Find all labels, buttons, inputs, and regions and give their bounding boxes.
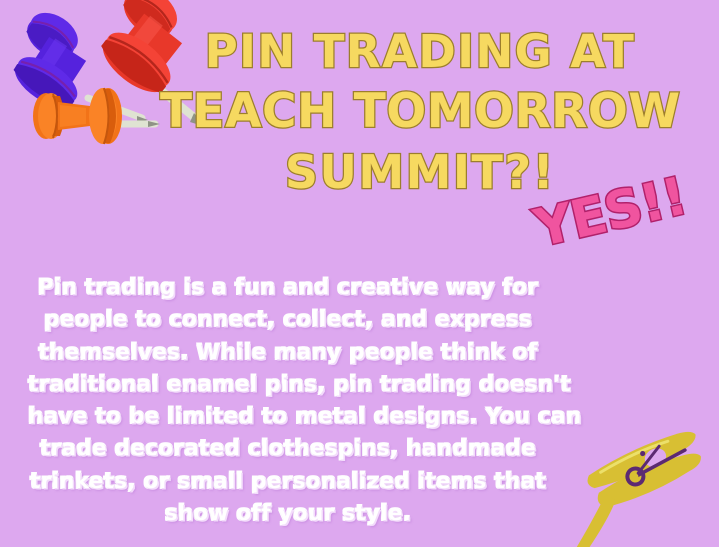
purple-push-pin bbox=[0, 5, 148, 122]
poster-canvas: PIN TRADING AT TEACH TOMORROW SUMMIT?! Y… bbox=[0, 0, 719, 547]
body-line: show off your style. bbox=[28, 498, 548, 530]
body-line: people to connect, collect, and express bbox=[28, 304, 548, 336]
title-line-1: PIN TRADING AT bbox=[160, 22, 680, 82]
body-line: Pin trading is a fun and creative way fo… bbox=[28, 272, 548, 304]
body-line: themselves. While many people think of bbox=[28, 337, 548, 369]
orange-push-pin bbox=[33, 88, 160, 144]
body-line: trinkets, or small personalized items th… bbox=[28, 466, 548, 498]
title-line-2: TEACH TOMORROW bbox=[160, 82, 680, 142]
body-paragraph: Pin trading is a fun and creative way fo… bbox=[28, 272, 548, 530]
body-line: trade decorated clothespins, handmade bbox=[28, 433, 548, 465]
poster-title: PIN TRADING AT TEACH TOMORROW SUMMIT?! bbox=[160, 22, 680, 202]
yellow-clothespin bbox=[538, 425, 719, 547]
body-line: traditional enamel pins, pin trading doe… bbox=[28, 369, 548, 401]
body-line: have to be limited to metal designs. You… bbox=[28, 401, 548, 433]
